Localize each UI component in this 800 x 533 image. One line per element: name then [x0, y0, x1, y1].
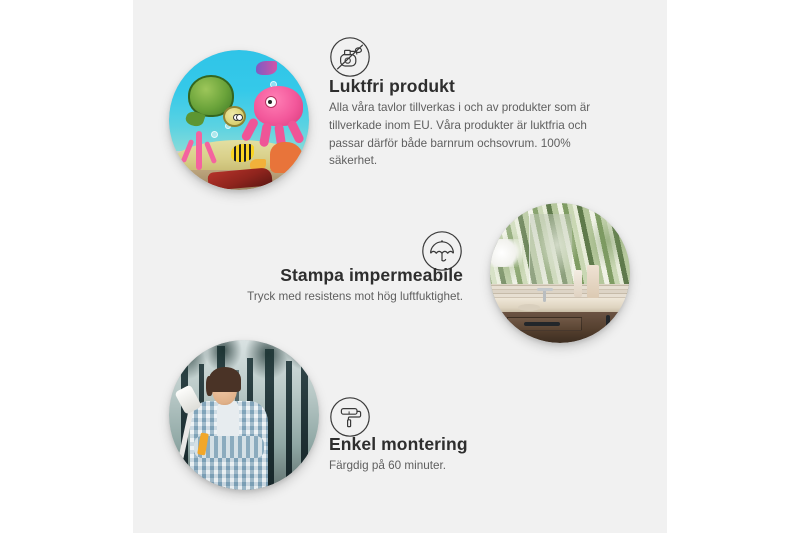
- orange-coral: [270, 142, 304, 173]
- hair: [209, 367, 241, 392]
- octopus-tentacle: [287, 119, 306, 144]
- soap-dish: [518, 304, 540, 311]
- toiletry-bottle: [587, 265, 600, 299]
- feature-text-easy-mounting: Enkel montering Färgdig på 60 minuter.: [329, 434, 589, 475]
- paint-roller-icon: [329, 396, 371, 438]
- toiletry-bottle: [574, 270, 582, 297]
- feature-body: Alla våra tavlor tillverkas i och av pro…: [329, 99, 619, 170]
- octopus-head: [254, 86, 302, 125]
- no-fragrance-spray-bottle-icon: [329, 36, 371, 78]
- feature-title: Luktfri produkt: [329, 76, 619, 97]
- feature-body: Färgdig på 60 minuter.: [329, 457, 589, 475]
- turtle-eye: [236, 114, 243, 121]
- feature-text-odorless: Luktfri produkt Alla våra tavlor tillver…: [329, 76, 619, 170]
- product-features-infographic: Luktfri produkt Alla våra tavlor tillver…: [0, 0, 800, 533]
- photo-inner: [169, 50, 309, 190]
- cabinet-handle: [606, 315, 610, 334]
- woman-with-paint-roller-forest-circle-photo: [169, 340, 319, 490]
- bathroom-tropical-wallpaper-circle-photo: [490, 203, 630, 343]
- turtle-head: [223, 106, 246, 127]
- feature-text-waterproof: Stampa impermeabile Tryck med resistens …: [193, 265, 463, 306]
- gold-vase: [496, 259, 517, 305]
- pink-coral: [180, 131, 216, 170]
- photo-inner: [490, 203, 630, 343]
- underwater-cartoon-sea-life-circle-photo: [169, 50, 309, 190]
- photo-inner: [169, 340, 319, 490]
- purple-fish-icon: [256, 61, 277, 75]
- woman-figure: [187, 367, 271, 490]
- drawer-handle: [524, 322, 560, 326]
- bathroom-mirror: [529, 214, 572, 287]
- faucet: [543, 290, 546, 303]
- octopus-eye: [265, 96, 277, 108]
- feature-body: Tryck med resistens mot hög luftfuktighe…: [193, 288, 463, 306]
- sea-turtle-icon: [186, 75, 248, 128]
- octopus-tentacle: [259, 122, 272, 147]
- feature-title: Enkel montering: [329, 434, 589, 455]
- infographic-panel: Luktfri produkt Alla våra tavlor tillver…: [133, 0, 667, 533]
- wooden-vanity: [490, 312, 630, 343]
- feature-title: Stampa impermeabile: [193, 265, 463, 286]
